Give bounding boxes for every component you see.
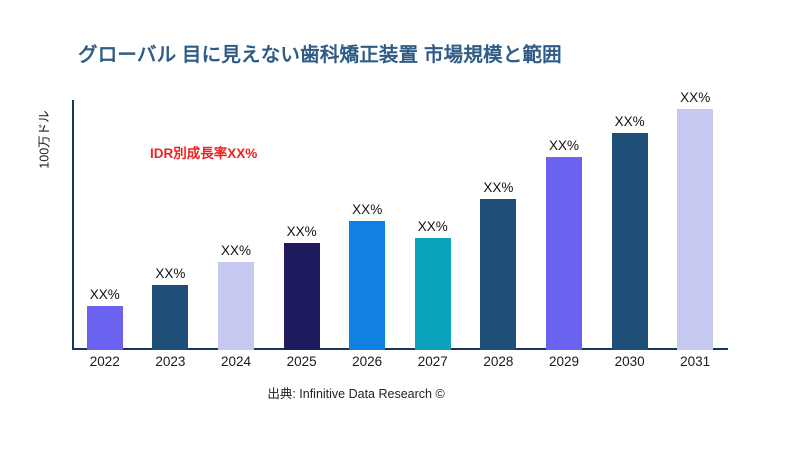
x-tick-2024: 2024 [203, 354, 269, 369]
bar-value-label: XX% [483, 180, 513, 195]
bar-2024[interactable] [218, 262, 254, 350]
bar-value-label: XX% [155, 266, 185, 281]
x-tick-2026: 2026 [334, 354, 400, 369]
x-tick-2029: 2029 [531, 354, 597, 369]
x-tick-2023: 2023 [138, 354, 204, 369]
bar-2025[interactable] [284, 243, 320, 350]
bar-slot: XX% [334, 100, 400, 350]
plot-area: XX% XX% XX% XX% XX% XX% XX% XX% [72, 100, 728, 350]
bar-slot: XX% [269, 100, 335, 350]
source-attribution: 出典: Infinitive Data Research © [0, 383, 712, 402]
chart-container: グローバル 目に見えない歯科矯正装置 市場規模と範囲 100万ドル XX% XX… [0, 0, 800, 450]
x-tick-2030: 2030 [597, 354, 663, 369]
x-tick-2028: 2028 [466, 354, 532, 369]
bar-2027[interactable] [415, 238, 451, 350]
bar-2028[interactable] [480, 199, 516, 350]
bar-value-label: XX% [615, 114, 645, 129]
bar-slot: XX% [138, 100, 204, 350]
bar-slot: XX% [466, 100, 532, 350]
bar-value-label: XX% [680, 90, 710, 105]
x-tick-2022: 2022 [72, 354, 138, 369]
bar-value-label: XX% [352, 202, 382, 217]
bar-slot: XX% [72, 100, 138, 350]
bar-slot: XX% [531, 100, 597, 350]
bar-2030[interactable] [612, 133, 648, 350]
bar-slot: XX% [400, 100, 466, 350]
bar-2023[interactable] [152, 285, 188, 350]
y-axis-label: 100万ドル [34, 75, 53, 205]
bar-value-label: XX% [549, 138, 579, 153]
bar-value-label: XX% [418, 219, 448, 234]
bar-slot: XX% [662, 100, 728, 350]
bar-value-label: XX% [221, 243, 251, 258]
x-tick-2027: 2027 [400, 354, 466, 369]
bar-slot: XX% [203, 100, 269, 350]
bar-2031[interactable] [677, 109, 713, 350]
bar-value-label: XX% [90, 287, 120, 302]
chart-title: グローバル 目に見えない歯科矯正装置 市場規模と範囲 [78, 38, 738, 67]
bar-2022[interactable] [87, 306, 123, 350]
bar-2029[interactable] [546, 157, 582, 350]
x-tick-2031: 2031 [662, 354, 728, 369]
cagr-annotation: IDR別成長率XX% [150, 142, 257, 162]
bar-slot: XX% [597, 100, 663, 350]
bar-2026[interactable] [349, 221, 385, 350]
x-tick-2025: 2025 [269, 354, 335, 369]
bar-value-label: XX% [287, 224, 317, 239]
